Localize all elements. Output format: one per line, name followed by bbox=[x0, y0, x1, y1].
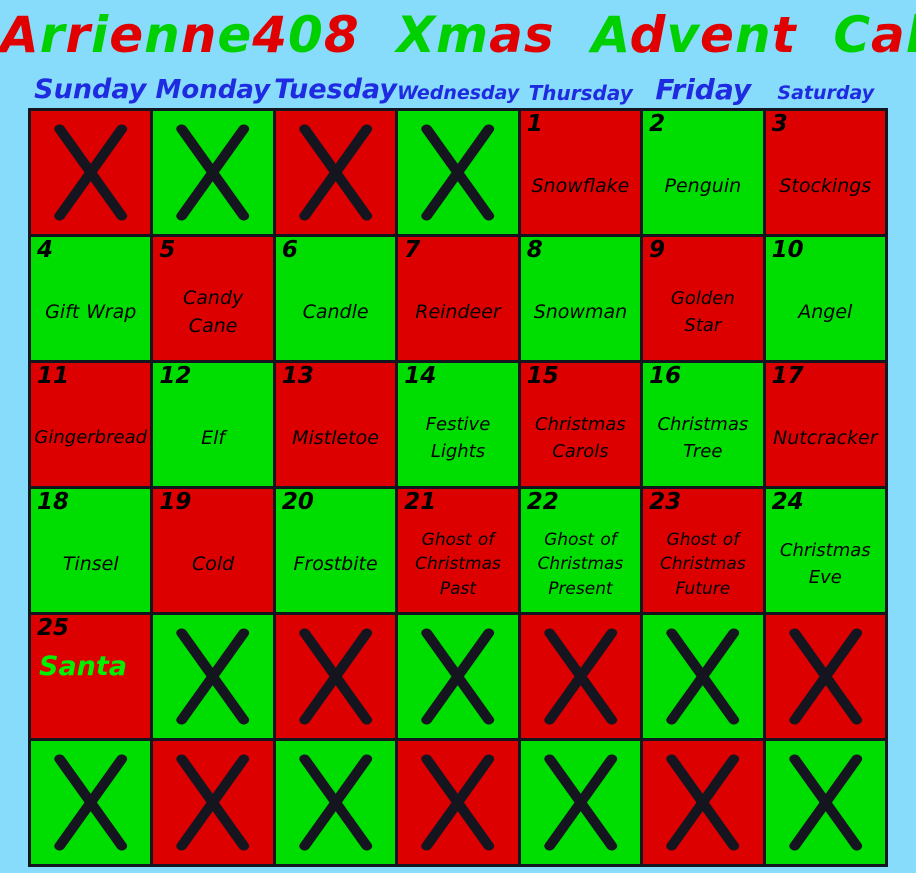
day-label: FestiveLights bbox=[402, 393, 513, 484]
day-label: Penguin bbox=[647, 141, 758, 232]
calendar-cell-day-21[interactable]: 21Ghost ofChristmasPast bbox=[398, 489, 517, 612]
day-label: Stockings bbox=[770, 141, 881, 232]
page-title: Arrienne408 Xmas Advent Calendar bbox=[0, 0, 916, 66]
cross-out-icon bbox=[276, 741, 395, 864]
calendar-cell-day-17[interactable]: 17Nutcracker bbox=[766, 363, 885, 486]
day-number: 20 bbox=[282, 490, 314, 514]
cross-out-icon bbox=[766, 741, 885, 864]
day-label-line: Eve bbox=[809, 565, 842, 591]
calendar-cell-empty[interactable] bbox=[766, 741, 885, 864]
calendar-cell-day-6[interactable]: 6Candle bbox=[276, 237, 395, 360]
cross-out-icon bbox=[398, 741, 517, 864]
day-label: CandyCane bbox=[157, 267, 268, 358]
day-number: 25 bbox=[37, 616, 69, 640]
day-label-line: Christmas bbox=[657, 412, 748, 438]
calendar-cell-day-18[interactable]: 18Tinsel bbox=[31, 489, 150, 612]
day-label: Ghost ofChristmasFuture bbox=[647, 519, 758, 610]
day-label: ChristmasTree bbox=[647, 393, 758, 484]
title-letter: A bbox=[0, 6, 40, 64]
day-number: 2 bbox=[649, 112, 665, 136]
day-number: 8 bbox=[527, 238, 543, 262]
day-number: 1 bbox=[527, 112, 543, 136]
day-number: 14 bbox=[404, 364, 436, 388]
calendar-cell-empty[interactable] bbox=[643, 615, 762, 738]
cross-out-icon bbox=[398, 111, 517, 234]
day-number: 18 bbox=[37, 490, 69, 514]
cross-out-icon bbox=[521, 741, 640, 864]
title-letter: e bbox=[217, 6, 252, 64]
advent-calendar-grid: 1Snowflake2Penguin3Stockings4Gift Wrap5C… bbox=[28, 108, 888, 867]
day-label: ChristmasEve bbox=[770, 519, 881, 610]
weekday-header-friday: Friday bbox=[642, 75, 765, 104]
calendar-cell-empty[interactable] bbox=[153, 615, 272, 738]
calendar-cell-empty[interactable] bbox=[643, 741, 762, 864]
day-number: 10 bbox=[772, 238, 804, 262]
title-letter: n bbox=[144, 6, 181, 64]
day-label-line: Christmas bbox=[415, 552, 501, 577]
title-letter: r bbox=[65, 6, 91, 64]
cross-out-icon bbox=[398, 615, 517, 738]
title-letter: m bbox=[436, 6, 489, 64]
day-number: 9 bbox=[649, 238, 665, 262]
day-label: Candle bbox=[280, 267, 391, 358]
day-number: 24 bbox=[772, 490, 804, 514]
day-label-line: Lights bbox=[431, 439, 485, 465]
cross-out-icon bbox=[643, 615, 762, 738]
day-label: Reindeer bbox=[402, 267, 513, 358]
calendar-cell-empty[interactable] bbox=[31, 741, 150, 864]
weekday-header-wednesday: Wednesday bbox=[397, 84, 520, 104]
day-number: 5 bbox=[159, 238, 175, 262]
title-letter: s bbox=[524, 6, 555, 64]
day-number: 15 bbox=[527, 364, 559, 388]
calendar-cell-day-14[interactable]: 14FestiveLights bbox=[398, 363, 517, 486]
weekday-header-row: SundayMondayTuesdayWednesdayThursdayFrid… bbox=[29, 66, 887, 104]
cross-out-icon bbox=[153, 111, 272, 234]
calendar-cell-day-9[interactable]: 9GoldenStar bbox=[643, 237, 762, 360]
day-label: Santa bbox=[35, 647, 146, 736]
weekday-header-thursday: Thursday bbox=[519, 83, 642, 104]
cross-out-icon bbox=[153, 615, 272, 738]
calendar-cell-empty[interactable] bbox=[153, 111, 272, 234]
calendar-cell-empty[interactable] bbox=[766, 615, 885, 738]
day-label: Cold bbox=[157, 519, 268, 610]
cross-out-icon bbox=[643, 741, 762, 864]
calendar-cell-empty[interactable] bbox=[276, 111, 395, 234]
title-letter: X bbox=[396, 6, 436, 64]
cross-out-icon bbox=[276, 111, 395, 234]
day-label-line: Future bbox=[675, 577, 730, 602]
day-number: 12 bbox=[159, 364, 191, 388]
calendar-cell-day-15[interactable]: 15ChristmasCarols bbox=[521, 363, 640, 486]
day-label-line: Christmas bbox=[660, 552, 746, 577]
calendar-cell-empty[interactable] bbox=[521, 615, 640, 738]
title-letter bbox=[796, 6, 833, 64]
day-number: 23 bbox=[649, 490, 681, 514]
calendar-cell-empty[interactable] bbox=[398, 111, 517, 234]
day-label-line: Christmas bbox=[538, 552, 624, 577]
calendar-cell-day-24[interactable]: 24ChristmasEve bbox=[766, 489, 885, 612]
calendar-cell-day-19[interactable]: 19Cold bbox=[153, 489, 272, 612]
day-label: Tinsel bbox=[35, 519, 146, 610]
title-letter bbox=[555, 6, 592, 64]
title-letter: 8 bbox=[324, 6, 360, 64]
day-label: Mistletoe bbox=[280, 393, 391, 484]
day-number: 19 bbox=[159, 490, 191, 514]
calendar-cell-day-8[interactable]: 8Snowman bbox=[521, 237, 640, 360]
day-label: Gift Wrap bbox=[35, 267, 146, 358]
title-letter: n bbox=[735, 6, 772, 64]
title-letter: i bbox=[91, 6, 109, 64]
calendar-cell-day-12[interactable]: 12Elf bbox=[153, 363, 272, 486]
day-number: 21 bbox=[404, 490, 436, 514]
day-label: Nutcracker bbox=[770, 393, 881, 484]
day-label-line: Carols bbox=[552, 439, 608, 465]
day-label: GoldenStar bbox=[647, 267, 758, 358]
day-label: ChristmasCarols bbox=[525, 393, 636, 484]
day-number: 16 bbox=[649, 364, 681, 388]
title-letter: A bbox=[591, 6, 629, 64]
day-number: 4 bbox=[37, 238, 53, 262]
day-label-line: Gift Wrap bbox=[45, 299, 136, 327]
title-letter: C bbox=[833, 6, 871, 64]
calendar-cell-day-16[interactable]: 16ChristmasTree bbox=[643, 363, 762, 486]
day-label-line: Cane bbox=[189, 313, 238, 341]
day-label: Gingerbread bbox=[35, 393, 146, 484]
day-label: Angel bbox=[770, 267, 881, 358]
calendar-cell-empty[interactable] bbox=[276, 741, 395, 864]
day-label-line: Christmas bbox=[535, 412, 626, 438]
day-label-line: Present bbox=[548, 577, 612, 602]
calendar-cell-empty[interactable] bbox=[521, 741, 640, 864]
calendar-cell-day-4[interactable]: 4Gift Wrap bbox=[31, 237, 150, 360]
calendar-cell-empty[interactable] bbox=[276, 615, 395, 738]
title-letter: a bbox=[489, 6, 524, 64]
day-label-line: Star bbox=[684, 313, 721, 339]
day-label-line: Ghost of bbox=[544, 528, 617, 553]
calendar-cell-day-10[interactable]: 10Angel bbox=[766, 237, 885, 360]
day-label-line: Tree bbox=[683, 439, 722, 465]
day-number: 7 bbox=[404, 238, 420, 262]
title-letter: 0 bbox=[288, 6, 324, 64]
day-label-line: Festive bbox=[426, 412, 491, 438]
cross-out-icon bbox=[31, 741, 150, 864]
cross-out-icon bbox=[521, 615, 640, 738]
cross-out-icon bbox=[153, 741, 272, 864]
day-label-line: Candy bbox=[183, 285, 243, 313]
title-letter: l bbox=[906, 6, 916, 64]
calendar-cell-day-11[interactable]: 11Gingerbread bbox=[31, 363, 150, 486]
title-letter: e bbox=[109, 6, 144, 64]
calendar-cell-day-2[interactable]: 2Penguin bbox=[643, 111, 762, 234]
cross-out-icon bbox=[766, 615, 885, 738]
calendar-cell-day-23[interactable]: 23Ghost ofChristmasFuture bbox=[643, 489, 762, 612]
day-label: Elf bbox=[157, 393, 268, 484]
day-label: Ghost ofChristmasPast bbox=[402, 519, 513, 610]
cross-out-icon bbox=[276, 615, 395, 738]
day-label-line: Christmas bbox=[780, 538, 871, 564]
calendar-cell-day-22[interactable]: 22Ghost ofChristmasPresent bbox=[521, 489, 640, 612]
day-number: 6 bbox=[282, 238, 298, 262]
day-label-line: Ghost of bbox=[667, 528, 740, 553]
calendar-cell-empty[interactable] bbox=[398, 741, 517, 864]
title-letter: t bbox=[772, 6, 797, 64]
calendar-cell-empty[interactable] bbox=[398, 615, 517, 738]
day-label: Ghost ofChristmasPresent bbox=[525, 519, 636, 610]
weekday-header-monday: Monday bbox=[152, 77, 275, 104]
title-letter: e bbox=[700, 6, 735, 64]
weekday-header-sunday: Sunday bbox=[29, 76, 152, 104]
day-label-line: Ghost of bbox=[422, 528, 495, 553]
day-label-line: Past bbox=[440, 577, 476, 602]
calendar-cell-day-13[interactable]: 13Mistletoe bbox=[276, 363, 395, 486]
calendar-cell-day-25[interactable]: 25Santa bbox=[31, 615, 150, 738]
title-letter: a bbox=[871, 6, 906, 64]
title-letter: n bbox=[181, 6, 218, 64]
weekday-header-saturday: Saturday bbox=[765, 84, 888, 104]
day-number: 3 bbox=[772, 112, 788, 136]
title-letter: r bbox=[40, 6, 66, 64]
day-label: Frostbite bbox=[280, 519, 391, 610]
calendar-cell-day-3[interactable]: 3Stockings bbox=[766, 111, 885, 234]
day-number: 13 bbox=[282, 364, 314, 388]
day-number: 17 bbox=[772, 364, 804, 388]
calendar-cell-day-1[interactable]: 1Snowflake bbox=[521, 111, 640, 234]
day-label: Snowman bbox=[525, 267, 636, 358]
cross-out-icon bbox=[31, 111, 150, 234]
calendar-cell-day-20[interactable]: 20Frostbite bbox=[276, 489, 395, 612]
day-label-line: Golden bbox=[671, 286, 735, 312]
title-letter: v bbox=[666, 6, 700, 64]
day-number: 11 bbox=[37, 364, 69, 388]
title-letter: 4 bbox=[252, 6, 288, 64]
weekday-header-tuesday: Tuesday bbox=[274, 76, 397, 104]
title-letter bbox=[360, 6, 397, 64]
calendar-cell-empty[interactable] bbox=[31, 111, 150, 234]
calendar-cell-day-5[interactable]: 5CandyCane bbox=[153, 237, 272, 360]
day-label: Snowflake bbox=[525, 141, 636, 232]
calendar-cell-empty[interactable] bbox=[153, 741, 272, 864]
calendar-cell-day-7[interactable]: 7Reindeer bbox=[398, 237, 517, 360]
title-letter: d bbox=[630, 6, 667, 64]
day-number: 22 bbox=[527, 490, 559, 514]
